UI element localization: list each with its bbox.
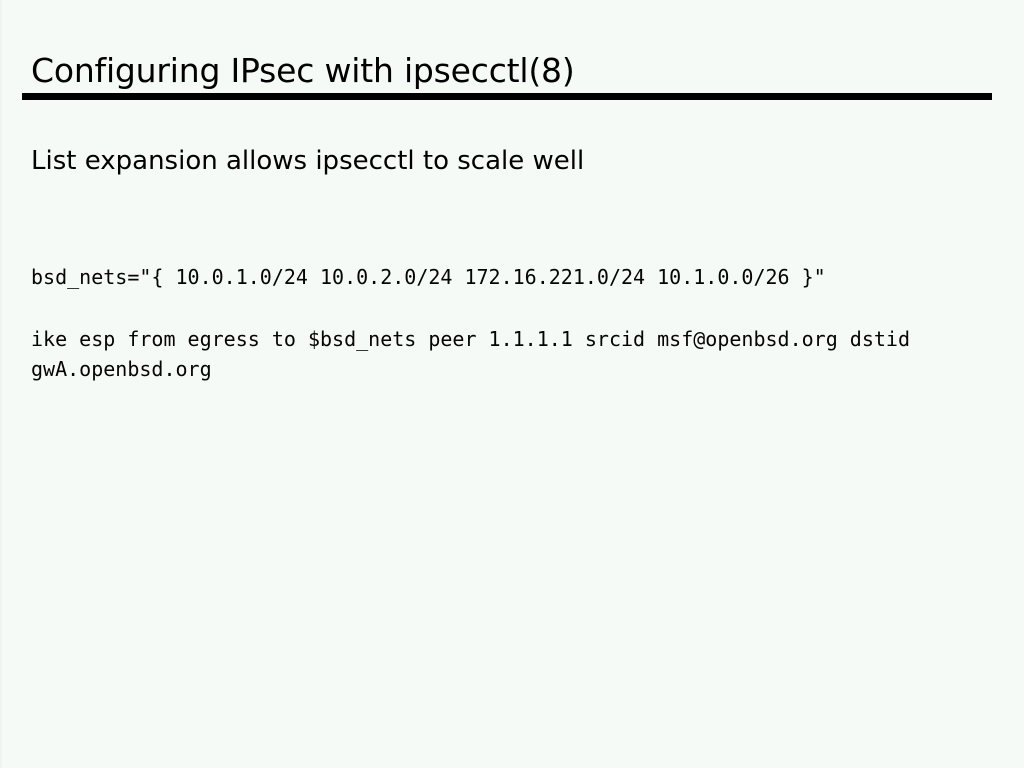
- presentation-slide: Configuring IPsec with ipsecctl(8) List …: [0, 0, 1024, 768]
- code-block: bsd_nets="{ 10.0.1.0/24 10.0.2.0/24 172.…: [31, 262, 971, 384]
- code-line-bsd-nets: bsd_nets="{ 10.0.1.0/24 10.0.2.0/24 172.…: [31, 262, 971, 292]
- slide-subtitle: List expansion allows ipsecctl to scale …: [31, 144, 584, 178]
- slide-content: List expansion allows ipsecctl to scale …: [0, 0, 1024, 768]
- code-line-spacer: [31, 292, 971, 324]
- code-line-ike-rule: ike esp from egress to $bsd_nets peer 1.…: [31, 324, 971, 384]
